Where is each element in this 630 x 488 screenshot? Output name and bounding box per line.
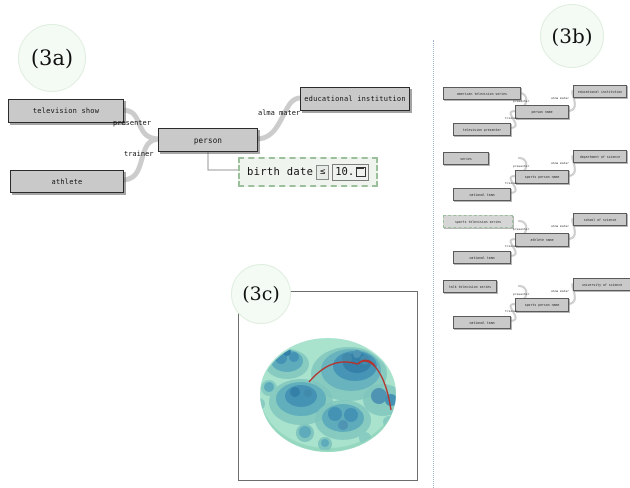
- result-node-b[interactable]: national team: [453, 188, 511, 201]
- node-label: television show: [33, 107, 99, 115]
- result-edge-label-alma-mater: alma mater: [551, 224, 569, 228]
- result-node-b[interactable]: national team: [453, 316, 511, 329]
- node-label: athlete: [52, 178, 83, 186]
- panel-label-3c: (3c): [231, 264, 291, 324]
- graph-node-person[interactable]: person: [158, 128, 258, 152]
- result-edge-label-presenter: presenter: [513, 227, 529, 231]
- panel-label-3b: (3b): [540, 4, 604, 68]
- result-node-a[interactable]: talk television series: [443, 280, 497, 293]
- result-edge-label-presenter: presenter: [513, 292, 529, 296]
- result-edge-label-trainer: trainer: [505, 116, 518, 120]
- result-node-d[interactable]: university of science: [573, 278, 630, 291]
- graph-node-television-show[interactable]: television show: [8, 99, 124, 123]
- result-item[interactable]: series national team sports person name …: [431, 148, 630, 220]
- date-value-input[interactable]: 10.: [332, 164, 369, 181]
- panel-label-3a: (3a): [18, 24, 86, 92]
- node-label: educational institution: [304, 95, 406, 103]
- edge-label-alma-mater[interactable]: alma mater: [258, 109, 300, 117]
- result-edge-label-alma-mater: alma mater: [551, 96, 569, 100]
- operator-select[interactable]: ≤: [316, 165, 329, 180]
- result-edge-label-presenter: presenter: [513, 99, 529, 103]
- result-node-c[interactable]: sports person name: [515, 170, 569, 184]
- property-filter-birth-date[interactable]: birth date ≤ 10.: [238, 157, 378, 187]
- result-node-b[interactable]: television presenter: [453, 123, 511, 136]
- result-node-c[interactable]: person name: [515, 105, 569, 119]
- result-node-b[interactable]: national team: [453, 251, 511, 264]
- result-edge-label-trainer: trainer: [505, 244, 518, 248]
- result-node-c[interactable]: athlete name: [515, 233, 569, 247]
- edge-property-path: [208, 150, 240, 170]
- edge-almamater-path: [256, 98, 300, 139]
- edge-label-presenter[interactable]: presenter: [113, 119, 151, 127]
- result-item[interactable]: talk television series national team spo…: [431, 276, 630, 348]
- edge-trainer-path: [122, 139, 160, 180]
- result-node-d[interactable]: school of science: [573, 213, 627, 226]
- result-edge-label-presenter: presenter: [513, 164, 529, 168]
- graph-node-athlete[interactable]: athlete: [10, 170, 124, 193]
- node-label: person: [194, 136, 222, 145]
- result-node-d[interactable]: department of science: [573, 150, 627, 163]
- result-node-d[interactable]: educational institution: [573, 85, 627, 98]
- edge-label-trainer[interactable]: trainer: [124, 150, 154, 158]
- result-edge-label-alma-mater: alma mater: [551, 161, 569, 165]
- result-edge-label-trainer: trainer: [505, 309, 518, 313]
- result-edge-label-trainer: trainer: [505, 181, 518, 185]
- calendar-icon[interactable]: [356, 167, 366, 177]
- result-item[interactable]: sports television series national team a…: [431, 211, 630, 283]
- date-value-text: 10.: [335, 166, 354, 178]
- result-item[interactable]: american television series television pr…: [431, 83, 630, 155]
- result-edge-label-alma-mater: alma mater: [551, 289, 569, 293]
- results-panel: Results american television series telev…: [431, 0, 630, 488]
- result-node-c[interactable]: sports person name: [515, 298, 569, 312]
- result-node-a[interactable]: series: [443, 152, 489, 165]
- graph-node-educational-institution[interactable]: educational institution: [300, 87, 410, 111]
- property-name-label: birth date: [247, 166, 313, 178]
- result-node-a[interactable]: american television series: [443, 87, 521, 100]
- result-node-a[interactable]: sports television series: [443, 215, 513, 228]
